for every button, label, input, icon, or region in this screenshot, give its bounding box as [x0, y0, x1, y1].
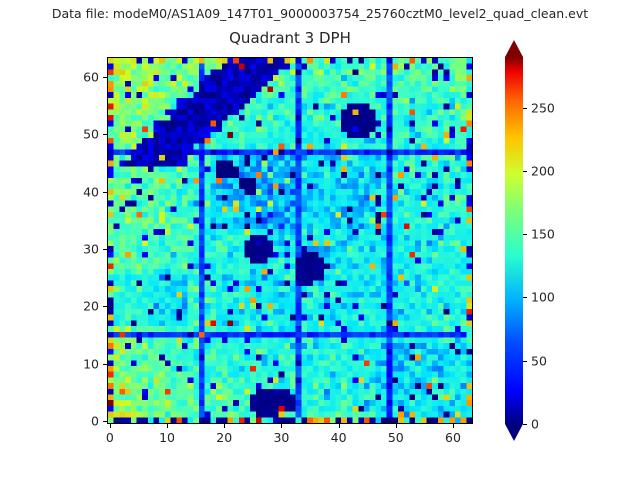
- x-tick-mark: [167, 424, 168, 428]
- x-tick-mark: [110, 424, 111, 428]
- y-tick-mark: [103, 249, 107, 250]
- x-tick-mark: [281, 424, 282, 428]
- x-tick-label: 20: [216, 430, 232, 445]
- x-tick-label: 0: [106, 430, 114, 445]
- x-tick-mark: [224, 424, 225, 428]
- colorbar-tick-mark: [523, 171, 527, 172]
- colorbar-tick-label: 50: [531, 353, 547, 368]
- y-tick-label: 50: [83, 127, 99, 142]
- y-tick-label: 40: [83, 184, 99, 199]
- x-tick-label: 40: [331, 430, 347, 445]
- y-tick-mark: [103, 306, 107, 307]
- colorbar-gradient: [505, 57, 523, 424]
- y-tick-mark: [103, 192, 107, 193]
- colorbar-tick-label: 250: [531, 100, 555, 115]
- y-tick-label: 20: [83, 299, 99, 314]
- y-tick-mark: [103, 421, 107, 422]
- x-tick-mark: [396, 424, 397, 428]
- plot-title: Quadrant 3 DPH: [107, 29, 473, 47]
- figure-canvas: Data file: modeM0/AS1A09_147T01_90000037…: [0, 0, 640, 480]
- y-tick-mark: [103, 77, 107, 78]
- heatmap-image[interactable]: [108, 58, 472, 423]
- data-file-caption: Data file: modeM0/AS1A09_147T01_90000037…: [0, 6, 640, 21]
- colorbar-tick-mark: [523, 361, 527, 362]
- y-tick-label: 0: [91, 414, 99, 429]
- x-tick-mark: [339, 424, 340, 428]
- x-tick-label: 30: [273, 430, 289, 445]
- colorbar-tick-label: 100: [531, 290, 555, 305]
- colorbar-tick-mark: [523, 424, 527, 425]
- y-tick-label: 30: [83, 242, 99, 257]
- colorbar-tick-label: 150: [531, 227, 555, 242]
- x-tick-label: 50: [388, 430, 404, 445]
- y-tick-label: 60: [83, 70, 99, 85]
- y-tick-mark: [103, 134, 107, 135]
- colorbar-extend-high-arrow-icon: [505, 40, 523, 57]
- x-tick-mark: [453, 424, 454, 428]
- x-tick-label: 60: [445, 430, 461, 445]
- x-tick-label: 10: [159, 430, 175, 445]
- y-tick-label: 10: [83, 356, 99, 371]
- colorbar-tick-mark: [523, 108, 527, 109]
- colorbar-tick-mark: [523, 297, 527, 298]
- y-tick-mark: [103, 364, 107, 365]
- colorbar-tick-label: 0: [531, 417, 539, 432]
- colorbar-tick-mark: [523, 234, 527, 235]
- colorbar[interactable]: [505, 57, 523, 424]
- colorbar-extend-low-arrow-icon: [505, 424, 523, 441]
- colorbar-tick-label: 200: [531, 163, 555, 178]
- heatmap-axes[interactable]: [107, 57, 473, 424]
